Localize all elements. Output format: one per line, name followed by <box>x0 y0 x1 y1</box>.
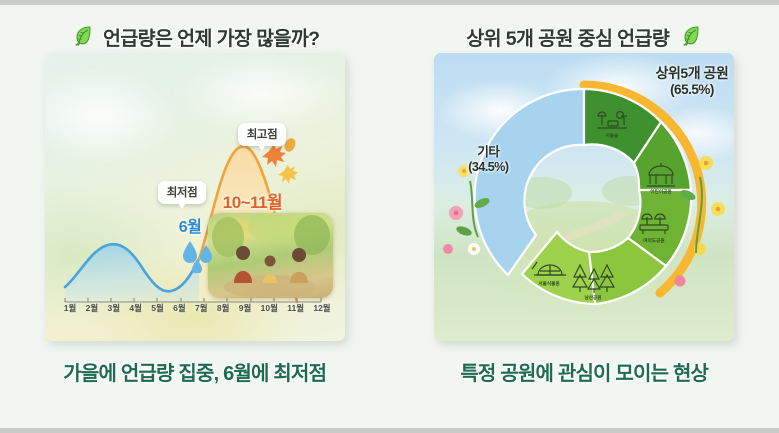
max-point-bubble: 최고점 <box>238 123 287 146</box>
slice-label-seoul-forest: 서울숲 <box>606 132 619 139</box>
month-label: 6월 <box>173 302 186 314</box>
other-group-title: 기타 <box>477 145 499 159</box>
top5-group-label: 상위5개 공원 (65.5%) <box>656 65 729 97</box>
min-point-bubble: 최저점 <box>158 181 207 204</box>
slice-label-children-park: 어린이공원 <box>651 188 672 195</box>
right-panel-header: 상위 5개 공원 중심 언급량 <box>466 19 702 53</box>
panel-right: 상위 5개 공원 중심 언급량 <box>390 5 779 428</box>
month-axis-labels: 1월 2월 3월 4월 5월 6월 7월 8월 9월 10월 11월 12월 <box>64 302 331 314</box>
leaf-icon <box>70 24 94 48</box>
infographic-stage: 언급량은 언제 가장 많을까? <box>0 5 779 428</box>
picnic-person-right <box>290 248 308 283</box>
month-label: 1월 <box>64 302 77 314</box>
panel-left: 언급량은 언제 가장 많을까? <box>0 5 390 428</box>
left-panel-header: 언급량은 언제 가장 많을까? <box>70 19 320 53</box>
picnic-photo-figures <box>208 213 333 298</box>
month-label: 7월 <box>195 302 208 314</box>
min-point-label: 6월 <box>179 213 202 237</box>
slice-label-namsan-park: 남산공원 <box>585 294 602 301</box>
month-label: 9월 <box>239 302 252 314</box>
month-label: 2월 <box>86 302 99 314</box>
right-caption: 특정 공원에 관심이 모이는 현상 <box>460 357 708 386</box>
month-label: 8월 <box>217 302 230 314</box>
other-group-percent: (34.5%) <box>468 160 508 175</box>
left-panel-title: 언급량은 언제 가장 많을까? <box>103 22 320 51</box>
month-label: 12월 <box>313 302 330 314</box>
right-chart-card: 서울숲 어린이공원 여의도공원 <box>434 53 734 341</box>
right-panel-title: 상위 5개 공원 중심 언급량 <box>466 22 669 51</box>
max-point-label: 10~11월 <box>223 188 282 213</box>
top5-group-percent: (65.5%) <box>656 82 729 98</box>
leaf-icon <box>678 24 702 48</box>
top5-group-title: 상위5개 공원 <box>656 65 729 81</box>
month-label: 5월 <box>151 302 164 314</box>
bottom-edge-bar <box>0 428 779 433</box>
water-drops-icon <box>181 239 217 273</box>
picnic-photo <box>208 213 333 298</box>
left-chart-card: 최저점 최고점 6월 10~11월 1월 2월 3월 4월 5월 6월 7월 8… <box>45 53 345 341</box>
month-label: 11월 <box>287 302 304 314</box>
other-group-label: 기타 (34.5%) <box>468 145 508 175</box>
month-label: 10월 <box>261 302 278 314</box>
left-caption: 가을에 언급량 집중, 6월에 최저점 <box>63 357 326 386</box>
month-label: 4월 <box>129 302 142 314</box>
slice-label-yeouido-park: 여의도공원 <box>644 237 665 244</box>
picnic-person-left <box>234 246 252 283</box>
slice-label-seoul-botanic-garden: 서울식물원 <box>539 280 560 287</box>
picnic-child <box>263 256 277 284</box>
month-label: 3월 <box>108 302 121 314</box>
